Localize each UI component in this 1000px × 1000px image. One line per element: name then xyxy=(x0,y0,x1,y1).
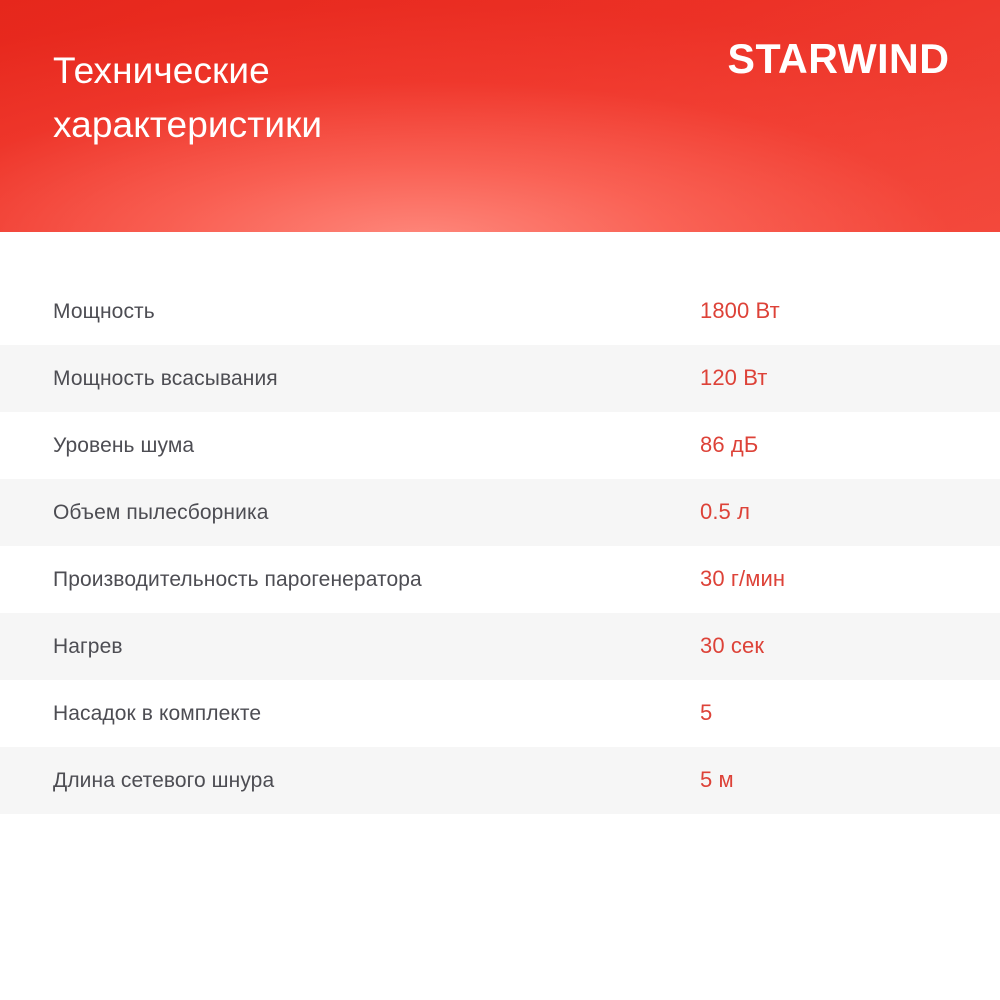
spec-row: Уровень шума86 дБ xyxy=(0,412,1000,479)
page-bottom-whitespace xyxy=(0,814,1000,996)
spec-value: 5 м xyxy=(700,767,1000,793)
spec-value: 5 xyxy=(700,700,1000,726)
spec-value: 30 сек xyxy=(700,633,1000,659)
table-top-spacer xyxy=(0,232,1000,278)
spec-row: Производительность парогенератора30 г/ми… xyxy=(0,546,1000,613)
specifications-table: Мощность1800 ВтМощность всасывания120 Вт… xyxy=(0,232,1000,996)
spec-label: Нагрев xyxy=(53,634,700,659)
spec-label: Уровень шума xyxy=(53,433,700,458)
spec-row: Объем пылесборника0.5 л xyxy=(0,479,1000,546)
spec-value: 30 г/мин xyxy=(700,566,1000,592)
spec-row: Мощность всасывания120 Вт xyxy=(0,345,1000,412)
spec-row: Насадок в комплекте5 xyxy=(0,680,1000,747)
product-spec-page: Технические характеристики STARWIND Мощн… xyxy=(0,0,1000,1000)
spec-row: Длина сетевого шнура5 м xyxy=(0,747,1000,814)
page-header: Технические характеристики STARWIND xyxy=(0,0,1000,232)
specifications-row-list: Мощность1800 ВтМощность всасывания120 Вт… xyxy=(0,278,1000,814)
starwind-brand-logo: STARWIND xyxy=(727,38,949,80)
spec-label: Длина сетевого шнура xyxy=(53,768,700,793)
spec-value: 1800 Вт xyxy=(700,298,1000,324)
header-content: Технические характеристики STARWIND xyxy=(0,0,1000,232)
page-title: Технические характеристики xyxy=(53,44,322,151)
spec-row: Нагрев30 сек xyxy=(0,613,1000,680)
spec-label: Мощность xyxy=(53,299,700,324)
spec-value: 120 Вт xyxy=(700,365,1000,391)
spec-value: 0.5 л xyxy=(700,499,1000,525)
spec-row: Мощность1800 Вт xyxy=(0,278,1000,345)
spec-label: Насадок в комплекте xyxy=(53,701,700,726)
spec-label: Производительность парогенератора xyxy=(53,567,700,592)
spec-value: 86 дБ xyxy=(700,432,1000,458)
spec-label: Объем пылесборника xyxy=(53,500,700,525)
spec-label: Мощность всасывания xyxy=(53,366,700,391)
